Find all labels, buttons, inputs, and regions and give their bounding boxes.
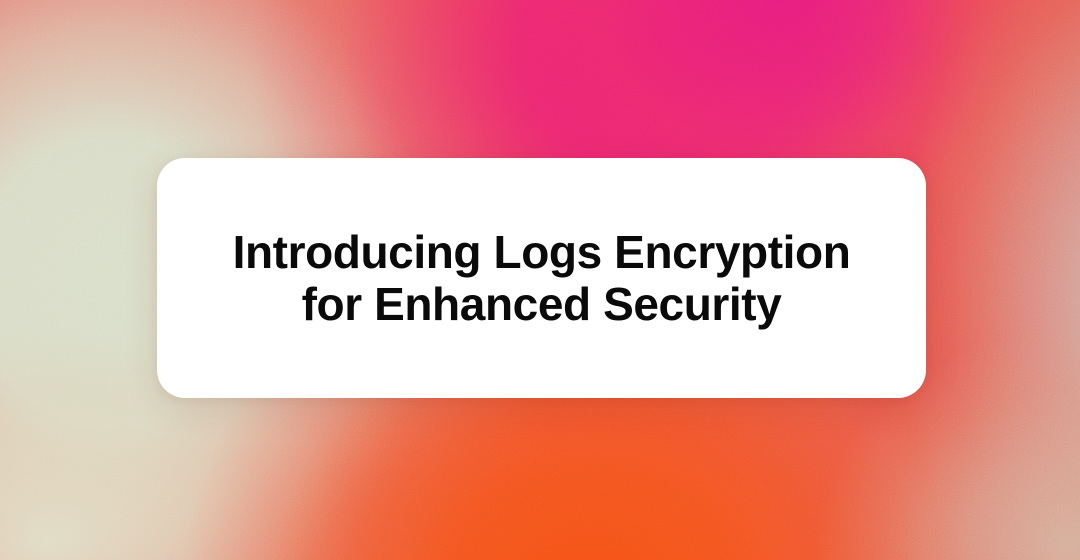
page-title: Introducing Logs Encryption for Enhanced…: [189, 226, 895, 330]
hero-canvas: Introducing Logs Encryption for Enhanced…: [0, 0, 1080, 560]
headline-card: Introducing Logs Encryption for Enhanced…: [157, 158, 926, 398]
